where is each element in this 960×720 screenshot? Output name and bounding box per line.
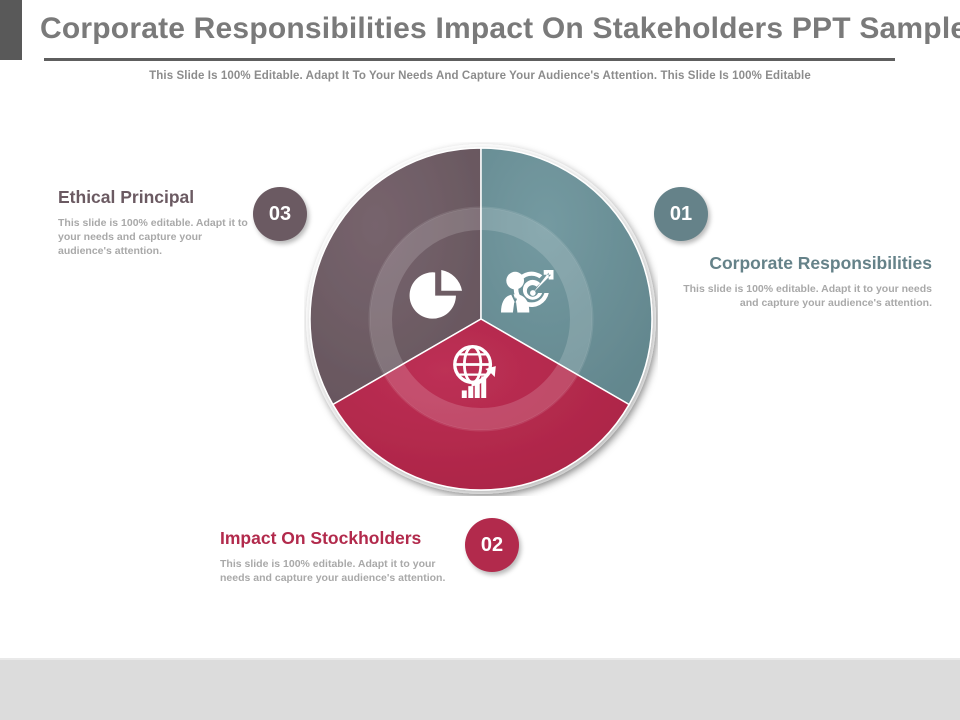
callout-01-body: This slide is 100% editable. Adapt it to… (680, 282, 932, 310)
footer-band (0, 658, 960, 720)
badge-03[interactable]: 03 (253, 187, 307, 241)
badge-01[interactable]: 01 (654, 187, 708, 241)
callout-02: Impact On Stockholders This slide is 100… (220, 527, 460, 585)
badge-02[interactable]: 02 (465, 518, 519, 572)
header-accent-bar (0, 0, 22, 60)
callout-02-title: Impact On Stockholders (220, 527, 460, 549)
callout-03: Ethical Principal This slide is 100% edi… (58, 186, 248, 258)
page-subtitle: This Slide Is 100% Editable. Adapt It To… (0, 70, 960, 82)
title-divider-rule (44, 58, 895, 61)
pie-chart-svg (304, 142, 658, 496)
pie-chart (304, 142, 658, 496)
callout-01-title: Corporate Responsibilities (680, 252, 932, 274)
page-title: Corporate Responsibilities Impact On Sta… (40, 8, 940, 50)
callout-03-body: This slide is 100% editable. Adapt it to… (58, 216, 248, 258)
slide-canvas: Corporate Responsibilities Impact On Sta… (0, 0, 960, 720)
callout-03-title: Ethical Principal (58, 186, 248, 208)
callout-02-body: This slide is 100% editable. Adapt it to… (220, 557, 460, 585)
callout-01: Corporate Responsibilities This slide is… (680, 252, 932, 310)
